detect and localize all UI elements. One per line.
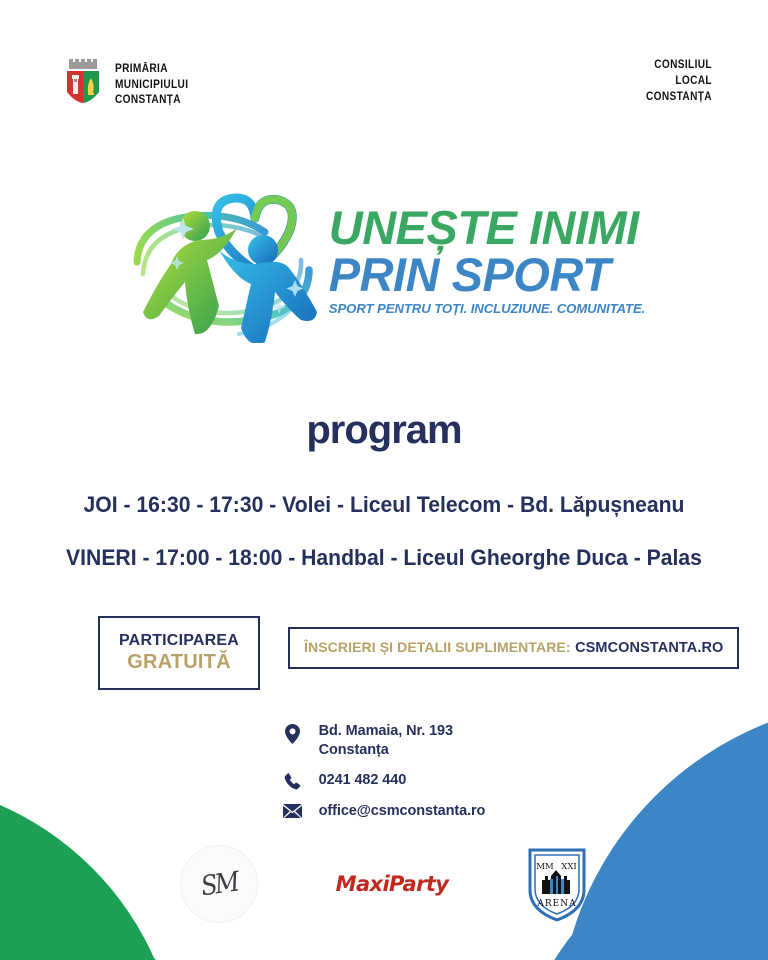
consiliu-local-block: CONSILIUL LOCAL CONSTANȚA: [646, 58, 712, 106]
consiliu-line-2: LOCAL: [646, 74, 712, 90]
contact-address-row: Bd. Mamaia, Nr. 193 Constanța: [283, 722, 486, 759]
primaria-line-2: MUNICIPIULUI: [115, 78, 188, 94]
program-heading: program: [0, 408, 768, 453]
free-participation-badge: PARTICIPAREA GRATUITĂ: [98, 616, 260, 690]
location-pin-icon: [283, 722, 303, 744]
contact-block: Bd. Mamaia, Nr. 193 Constanța 0241 482 4…: [0, 722, 768, 821]
schedule-list: JOI - 16:30 - 17:30 - Volei - Liceul Tel…: [0, 492, 768, 571]
sponsor-row: SM MaxiParty MM XXI ARENA: [0, 845, 768, 923]
envelope-icon: [283, 802, 303, 818]
sponsor-logo-sm: SM: [180, 845, 258, 923]
contact-address: Bd. Mamaia, Nr. 193 Constanța: [319, 722, 453, 759]
primaria-line-1: PRIMĂRIA: [115, 62, 188, 78]
hero-title-line-1: UNEȘTE INIMI: [329, 205, 645, 251]
coat-of-arms-icon: [62, 58, 104, 113]
contact-phone[interactable]: 0241 482 440: [319, 771, 407, 790]
svg-text:XXI: XXI: [562, 862, 577, 872]
phone-icon: [283, 771, 303, 790]
poster-header: PRIMĂRIA MUNICIPIULUI CONSTANȚA CONSILIU…: [62, 58, 712, 113]
unity-figures-heart-logo-icon: [123, 178, 323, 343]
hero-tagline: SPORT PENTRU TOȚI. INCLUZIUNE. COMUNITAT…: [329, 301, 645, 316]
svg-text:MM: MM: [537, 862, 555, 872]
primaria-line-3: CONSTANȚA: [115, 93, 188, 109]
schedule-entry: VINERI - 17:00 - 18:00 - Handbal - Liceu…: [23, 545, 745, 571]
badge-row: PARTICIPAREA GRATUITĂ ÎNSCRIERI ȘI DETAL…: [98, 616, 686, 690]
poster-canvas: PRIMĂRIA MUNICIPIULUI CONSTANȚA CONSILIU…: [0, 0, 768, 960]
schedule-entry: JOI - 16:30 - 17:30 - Volei - Liceul Tel…: [23, 492, 745, 518]
contact-email-row: office@csmconstanta.ro: [283, 802, 486, 821]
free-participation-line-1: PARTICIPAREA: [119, 631, 239, 650]
consiliu-line-3: CONSTANȚA: [646, 90, 712, 106]
hero-title-line-2: PRIN SPORT: [329, 251, 645, 299]
primaria-block: PRIMĂRIA MUNICIPIULUI CONSTANȚA: [62, 58, 198, 113]
signup-label: ÎNSCRIERI ȘI DETALII SUPLIMENTARE:: [304, 639, 571, 655]
hero-wordmark: UNEȘTE INIMI PRIN SPORT SPORT PENTRU TOȚ…: [329, 205, 645, 317]
free-participation-line-2: GRATUITĂ: [119, 650, 239, 674]
signup-website[interactable]: CSMCONSTANTA.RO: [575, 640, 723, 656]
sponsor-logo-arena-icon: MM XXI ARENA: [526, 846, 588, 922]
contact-phone-row: 0241 482 440: [283, 771, 486, 790]
primaria-label: PRIMĂRIA MUNICIPIULUI CONSTANȚA: [115, 62, 188, 110]
contact-email[interactable]: office@csmconstanta.ro: [319, 802, 486, 821]
svg-text:ARENA: ARENA: [537, 899, 577, 909]
hero-block: UNEȘTE INIMI PRIN SPORT SPORT PENTRU TOȚ…: [0, 178, 768, 343]
sponsor-logo-maxiparty: MaxiParty: [336, 872, 449, 896]
consiliu-line-1: CONSILIUL: [646, 58, 712, 74]
sponsor-sm-monogram: SM: [199, 866, 239, 902]
signup-badge[interactable]: ÎNSCRIERI ȘI DETALII SUPLIMENTARE: CSMCO…: [288, 627, 739, 669]
